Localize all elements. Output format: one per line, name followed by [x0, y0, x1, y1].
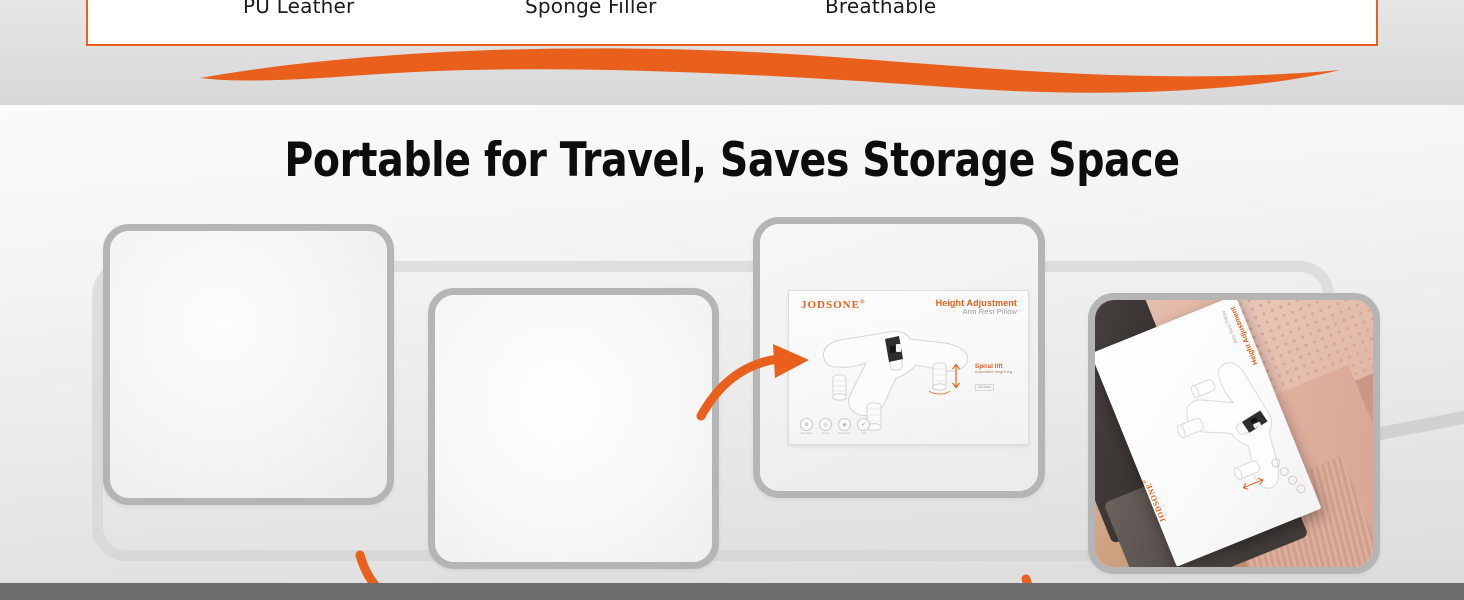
product-image-panel-assembled: JODSONE	[103, 224, 394, 505]
main-section: Portable for Travel, Saves Storage Space	[0, 105, 1464, 583]
panel-background	[110, 231, 387, 498]
box-feature-icon-row: ⚙ Adjustable ◎ Stable ◉ Breathable ✔	[800, 418, 870, 435]
box-feature-icon-label: Adjustable	[800, 432, 813, 435]
box-feature-icon-label: Stable	[819, 432, 832, 435]
spiral-lift-note: 25.4mm	[975, 384, 994, 391]
panel-background	[435, 295, 712, 562]
feature-label-sponge-filler: Sponge Filler	[525, 0, 657, 18]
box-feature-icon-soft: ✔ Soft	[857, 418, 870, 435]
product-image-panel-retail-box: JODSONE® Height Adjustment Arm Rest Pill…	[753, 217, 1045, 498]
feature-label-row: PU Leather Sponge Filler Breathable	[88, 2, 1376, 32]
spiral-lift-callout: Spiral lift Adjustable height leg 25.4mm	[975, 363, 1012, 392]
page-root: PU Leather Sponge Filler Breathable Port…	[0, 0, 1464, 600]
target-icon: ◎	[819, 418, 832, 431]
box-feature-icon-breathable: ◉ Breathable	[838, 418, 851, 435]
box-feature-icon-label: Breathable	[838, 432, 851, 435]
feature-label-breathable: Breathable	[825, 0, 936, 18]
box-feature-icon-stable: ◎ Stable	[819, 418, 832, 435]
page-title: Portable for Travel, Saves Storage Space	[117, 133, 1347, 188]
spiral-lift-subtitle: Adjustable height leg	[975, 370, 1012, 374]
product-image-panel-disassembled: JODSONE	[428, 288, 719, 569]
feature-label-pu-leather: PU Leather	[243, 0, 354, 18]
bottom-bar	[0, 583, 1464, 600]
orange-wave-decoration	[0, 40, 1464, 100]
gear-icon: ⚙	[800, 418, 813, 431]
box-feature-icon-label: Soft	[857, 432, 870, 435]
check-icon: ✔	[857, 418, 870, 431]
product-image-panel-in-suitcase: JODSONE® Height Adjustment Arm Rest Pill…	[1088, 293, 1380, 574]
circle-dot-icon: ◉	[838, 418, 851, 431]
retail-box: JODSONE® Height Adjustment Arm Rest Pill…	[788, 290, 1029, 445]
box-feature-icon-adjustable: ⚙ Adjustable	[800, 418, 813, 435]
top-feature-strip: PU Leather Sponge Filler Breathable	[0, 0, 1464, 105]
